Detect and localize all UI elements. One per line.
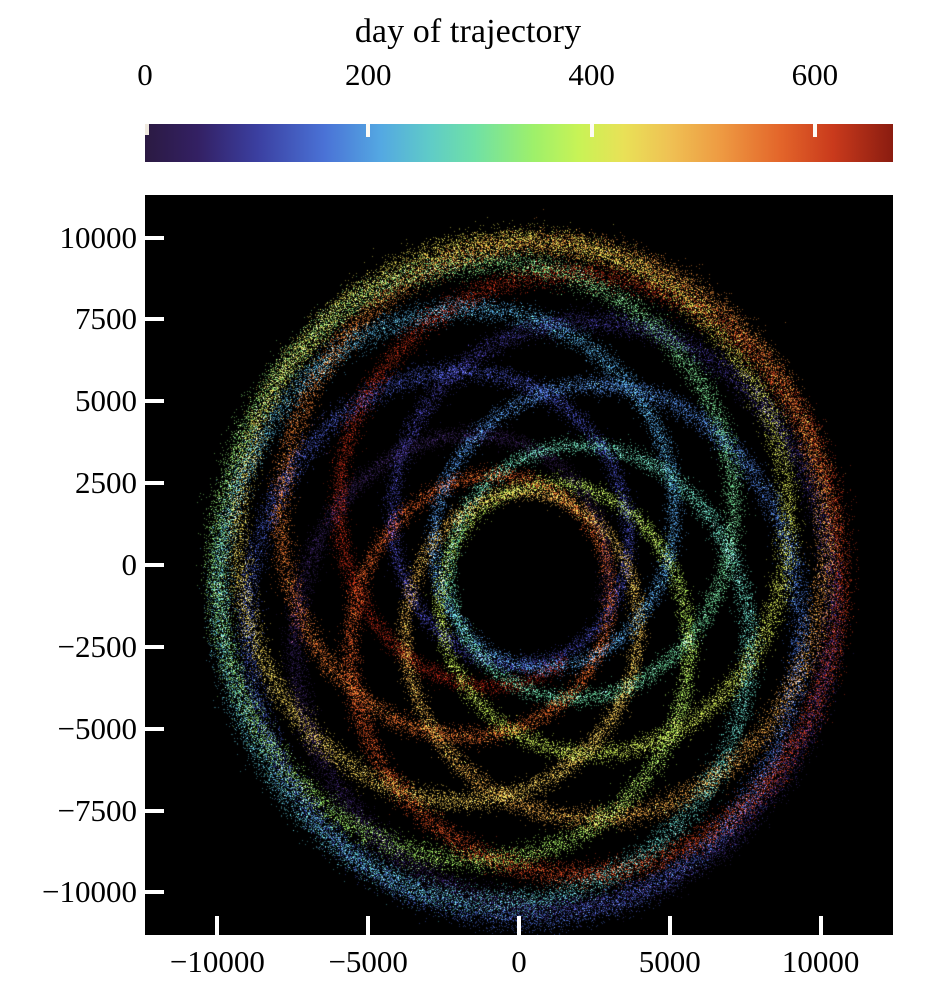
scatter-canvas — [145, 195, 893, 935]
y-axis-ticklabel: 10000 — [60, 220, 138, 256]
colorbar-title: day of trajectory — [0, 12, 936, 52]
y-axis-ticklabel: 7500 — [75, 301, 137, 337]
y-axis-tick — [145, 890, 164, 894]
x-axis-ticklabel: 10000 — [782, 940, 860, 984]
colorbar-ticklabel: 600 — [792, 56, 839, 94]
y-axis-ticklabel: −5000 — [58, 711, 137, 747]
colorbar-gradient — [145, 124, 893, 162]
y-axis-tick — [145, 563, 164, 567]
colorbar-ticklabels: 0200400600 — [145, 56, 893, 96]
x-axis-tick — [668, 916, 672, 935]
y-axis-ticklabel: 2500 — [75, 465, 137, 501]
y-axis-ticklabel: 5000 — [75, 383, 137, 419]
y-axis-tick — [145, 645, 164, 649]
colorbar-tick — [813, 124, 817, 137]
x-axis-ticklabel: −5000 — [328, 940, 407, 984]
y-axis-ticklabel: −2500 — [58, 629, 137, 665]
colorbar-tick — [366, 124, 370, 137]
y-axis-tick — [145, 727, 164, 731]
x-axis-tick — [215, 916, 219, 935]
colorbar-tick — [145, 124, 149, 135]
x-axis-ticklabel: −10000 — [170, 940, 265, 984]
x-axis-tick — [366, 916, 370, 935]
y-axis-tick — [145, 236, 164, 240]
y-axis-ticklabel: −7500 — [58, 793, 137, 829]
plot-area — [145, 195, 893, 935]
figure: day of trajectory 0200400600 −10000−7500… — [0, 0, 936, 1006]
y-axis-tick — [145, 317, 164, 321]
y-axis-ticklabels: −10000−7500−5000−2500025005000750010000 — [0, 195, 137, 935]
x-axis-ticklabels: −10000−50000500010000 — [145, 940, 893, 996]
x-axis-tick — [517, 916, 521, 935]
y-axis-tick — [145, 809, 164, 813]
y-axis-ticklabel: −10000 — [42, 874, 137, 910]
x-axis-ticklabel: 5000 — [639, 940, 701, 984]
colorbar-ticklabel: 400 — [568, 56, 615, 94]
x-axis-ticklabel: 0 — [511, 940, 527, 984]
y-axis-ticklabel: 0 — [122, 547, 138, 583]
y-axis-tick — [145, 399, 164, 403]
y-axis-tick — [145, 481, 164, 485]
colorbar-tick — [590, 124, 594, 137]
colorbar-ticklabel: 200 — [345, 56, 392, 94]
x-axis-tick — [819, 916, 823, 935]
colorbar-ticklabel: 0 — [137, 56, 153, 94]
